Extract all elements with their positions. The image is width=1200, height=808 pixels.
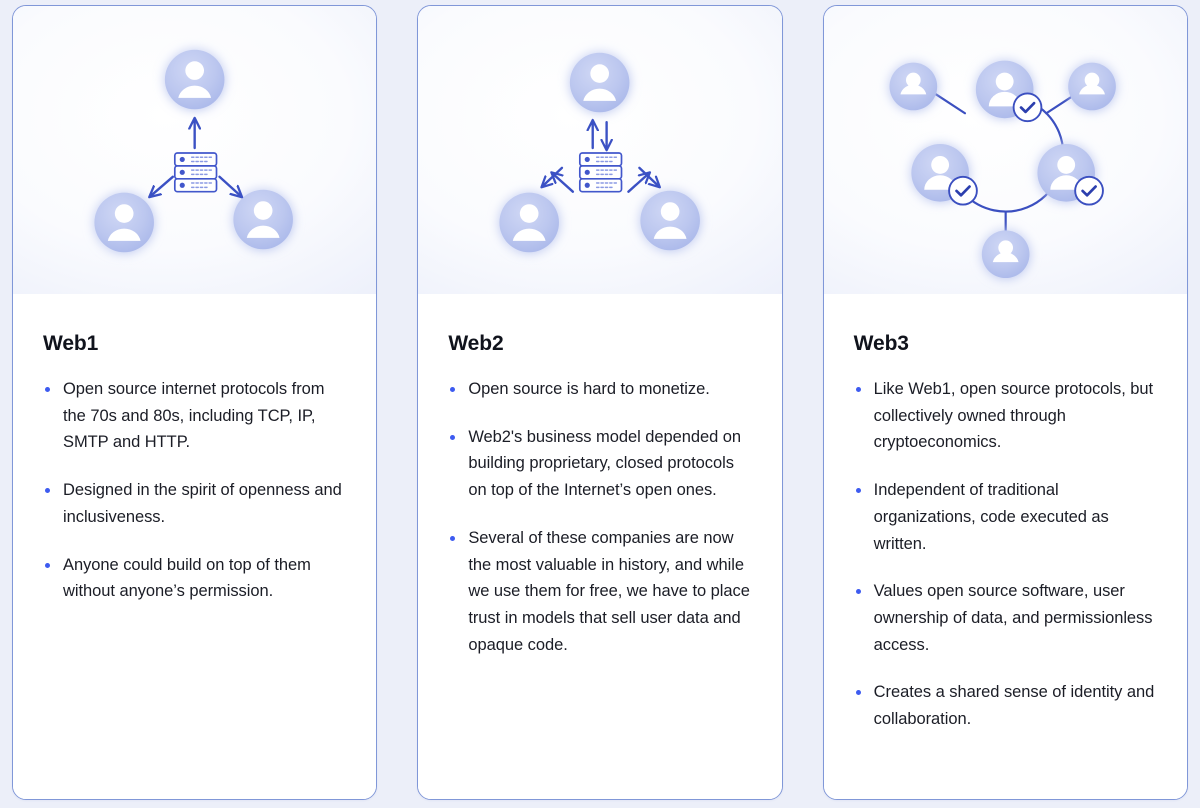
illustration-web1 <box>13 6 376 294</box>
user-avatar <box>889 63 937 111</box>
list-item: Creates a shared sense of identity and c… <box>854 679 1157 732</box>
list-item: Open source internet protocols from the … <box>43 376 346 456</box>
card-body-web2: Web2 Open source is hard to monetize. We… <box>418 294 781 799</box>
check-badge-icon <box>1075 177 1103 205</box>
card-web3: Web3 Like Web1, open source protocols, b… <box>823 5 1188 800</box>
user-avatar <box>570 53 630 113</box>
list-item: Anyone could build on top of them withou… <box>43 552 346 605</box>
list-item: Open source is hard to monetize. <box>448 376 751 403</box>
card-body-web3: Web3 Like Web1, open source protocols, b… <box>824 294 1187 799</box>
list-item: Independent of traditional organizations… <box>854 477 1157 557</box>
card-body-web1: Web1 Open source internet protocols from… <box>13 294 376 799</box>
illustration-web3 <box>824 6 1187 294</box>
card-web1: Web1 Open source internet protocols from… <box>12 5 377 800</box>
bidirectional-server-client-diagram <box>418 6 781 294</box>
check-badge-icon <box>1013 93 1041 121</box>
user-avatar <box>165 50 225 110</box>
server-rack-icon <box>580 153 622 192</box>
bullet-list-web3: Like Web1, open source protocols, but co… <box>854 376 1157 733</box>
list-item: Like Web1, open source protocols, but co… <box>854 376 1157 456</box>
server-rack-icon <box>175 153 217 192</box>
page-title: Web3 <box>854 332 1157 356</box>
centralized-server-broadcast-diagram <box>13 6 376 294</box>
decentralized-peer-network-diagram <box>824 6 1187 294</box>
check-badge-icon <box>949 177 977 205</box>
user-avatar <box>1068 63 1116 111</box>
list-item: Values open source software, user owners… <box>854 578 1157 658</box>
list-item: Several of these companies are now the m… <box>448 525 751 659</box>
card-web2: Web2 Open source is hard to monetize. We… <box>417 5 782 800</box>
user-avatar <box>500 193 560 253</box>
user-avatar <box>641 191 701 251</box>
user-avatar <box>981 230 1029 278</box>
bullet-list-web1: Open source internet protocols from the … <box>43 376 346 605</box>
user-avatar <box>94 193 154 253</box>
list-item: Designed in the spirit of openness and i… <box>43 477 346 530</box>
user-avatar <box>233 190 293 250</box>
bullet-list-web2: Open source is hard to monetize. Web2's … <box>448 376 751 658</box>
list-item: Web2's business model depended on buildi… <box>448 424 751 504</box>
illustration-web2 <box>418 6 781 294</box>
page-title: Web1 <box>43 332 346 356</box>
comparison-board: Web1 Open source internet protocols from… <box>0 0 1200 808</box>
page-title: Web2 <box>448 332 751 356</box>
